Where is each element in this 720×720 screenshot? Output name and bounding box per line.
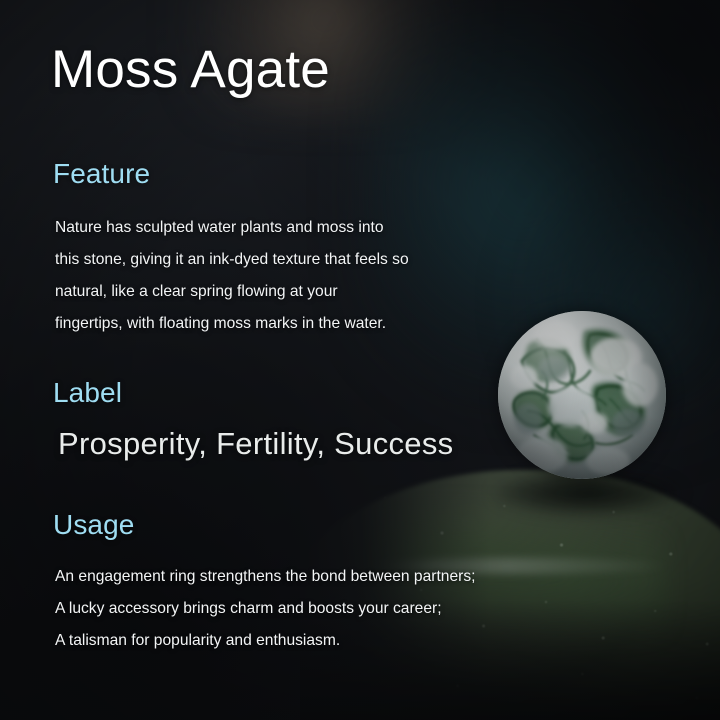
page-title: Moss Agate xyxy=(51,40,330,99)
text-content: Moss Agate Feature Nature has sculpted w… xyxy=(0,0,720,720)
usage-heading: Usage xyxy=(53,509,134,541)
label-heading: Label xyxy=(53,377,122,409)
usage-line: A talisman for popularity and enthusiasm… xyxy=(55,625,475,657)
feature-body: Nature has sculpted water plants and mos… xyxy=(55,212,409,340)
feature-line: fingertips, with floating moss marks in … xyxy=(55,308,409,340)
product-poster: Moss Agate Feature Nature has sculpted w… xyxy=(0,0,720,720)
feature-line: Nature has sculpted water plants and mos… xyxy=(55,212,409,244)
usage-body: An engagement ring strengthens the bond … xyxy=(55,561,475,657)
feature-heading: Feature xyxy=(53,158,150,190)
usage-line: An engagement ring strengthens the bond … xyxy=(55,561,475,593)
feature-line: natural, like a clear spring flowing at … xyxy=(55,276,409,308)
usage-line: A lucky accessory brings charm and boost… xyxy=(55,593,475,625)
feature-line: this stone, giving it an ink-dyed textur… xyxy=(55,244,409,276)
label-value: Prosperity, Fertility, Success xyxy=(58,425,453,462)
